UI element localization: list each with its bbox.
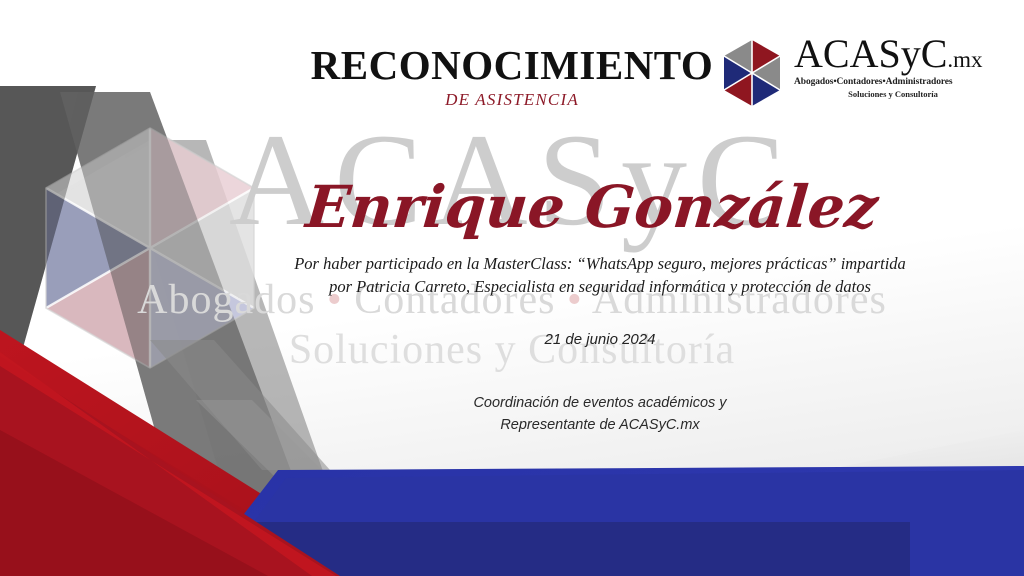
- brand-name: ACASyC.mx: [794, 34, 992, 74]
- brand-logo: ACASyC.mx Abogados•Contadores•Administra…: [716, 34, 992, 114]
- body-text: Por haber participado en la MasterClass:…: [292, 252, 908, 299]
- event-date: 21 de junio 2024: [312, 331, 888, 348]
- certificate-canvas: ACASyC Abogados • Contadores • Administr…: [0, 0, 1024, 576]
- body-line-3: de datos: [815, 277, 870, 296]
- title-block: RECONOCIMIENTO DE ASISTENCIA: [262, 44, 762, 110]
- body-line-1: Por haber participado en la MasterClass:…: [294, 254, 836, 273]
- signature-line-2: Representante de ACASyC.mx: [312, 414, 888, 436]
- brand-tagline-secondary: Soluciones y Consultoría: [794, 89, 992, 99]
- signature-block: Coordinación de eventos académicos y Rep…: [312, 392, 888, 437]
- brand-text-block: ACASyC.mx Abogados•Contadores•Administra…: [794, 34, 992, 99]
- brand-name-main: ACASyC: [794, 31, 947, 76]
- hexagon-logo-icon: [716, 36, 788, 110]
- recipient-name: Enrique González: [209, 176, 975, 240]
- brand-name-tld: .mx: [947, 47, 982, 72]
- brand-tagline-primary: Abogados•Contadores•Administradores: [794, 77, 992, 87]
- signature-line-1: Coordinación de eventos académicos y: [312, 392, 888, 414]
- certificate-content: RECONOCIMIENTO DE ASISTENCIA: [0, 0, 1024, 576]
- page-subtitle: DE ASISTENCIA: [262, 90, 762, 110]
- page-title: RECONOCIMIENTO: [262, 44, 762, 87]
